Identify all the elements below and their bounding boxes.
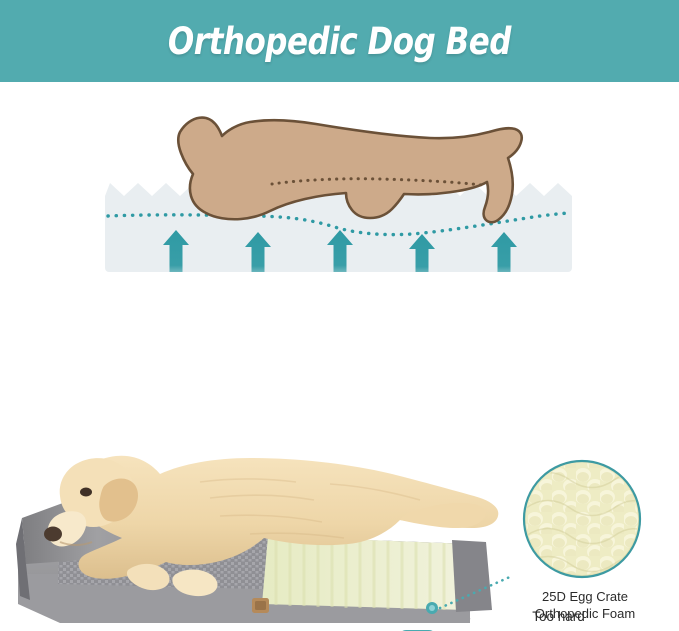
dog-nose <box>44 527 62 542</box>
foam-callout-line1: 25D Egg Crate <box>499 589 671 606</box>
product-photo: 25D Egg Crate Orthopedic Foam <box>0 424 679 631</box>
page-title: Orthopedic Dog Bed <box>168 20 511 63</box>
header-banner: Orthopedic Dog Bed <box>0 0 679 82</box>
hardness-scale: Too soft Medium hardness Too hard 1 7.5 … <box>0 300 679 410</box>
foam-callout-line2: Orthopedic Foam <box>499 606 671 623</box>
product-infographic: Orthopedic Dog Bed <box>0 0 679 631</box>
support-diagram <box>0 82 679 292</box>
egg-crate-foam-callout <box>524 461 642 577</box>
foam-callout-label: 25D Egg Crate Orthopedic Foam <box>499 589 671 623</box>
egg-crate-foam-layer <box>262 536 470 610</box>
dog-eye <box>80 488 92 497</box>
